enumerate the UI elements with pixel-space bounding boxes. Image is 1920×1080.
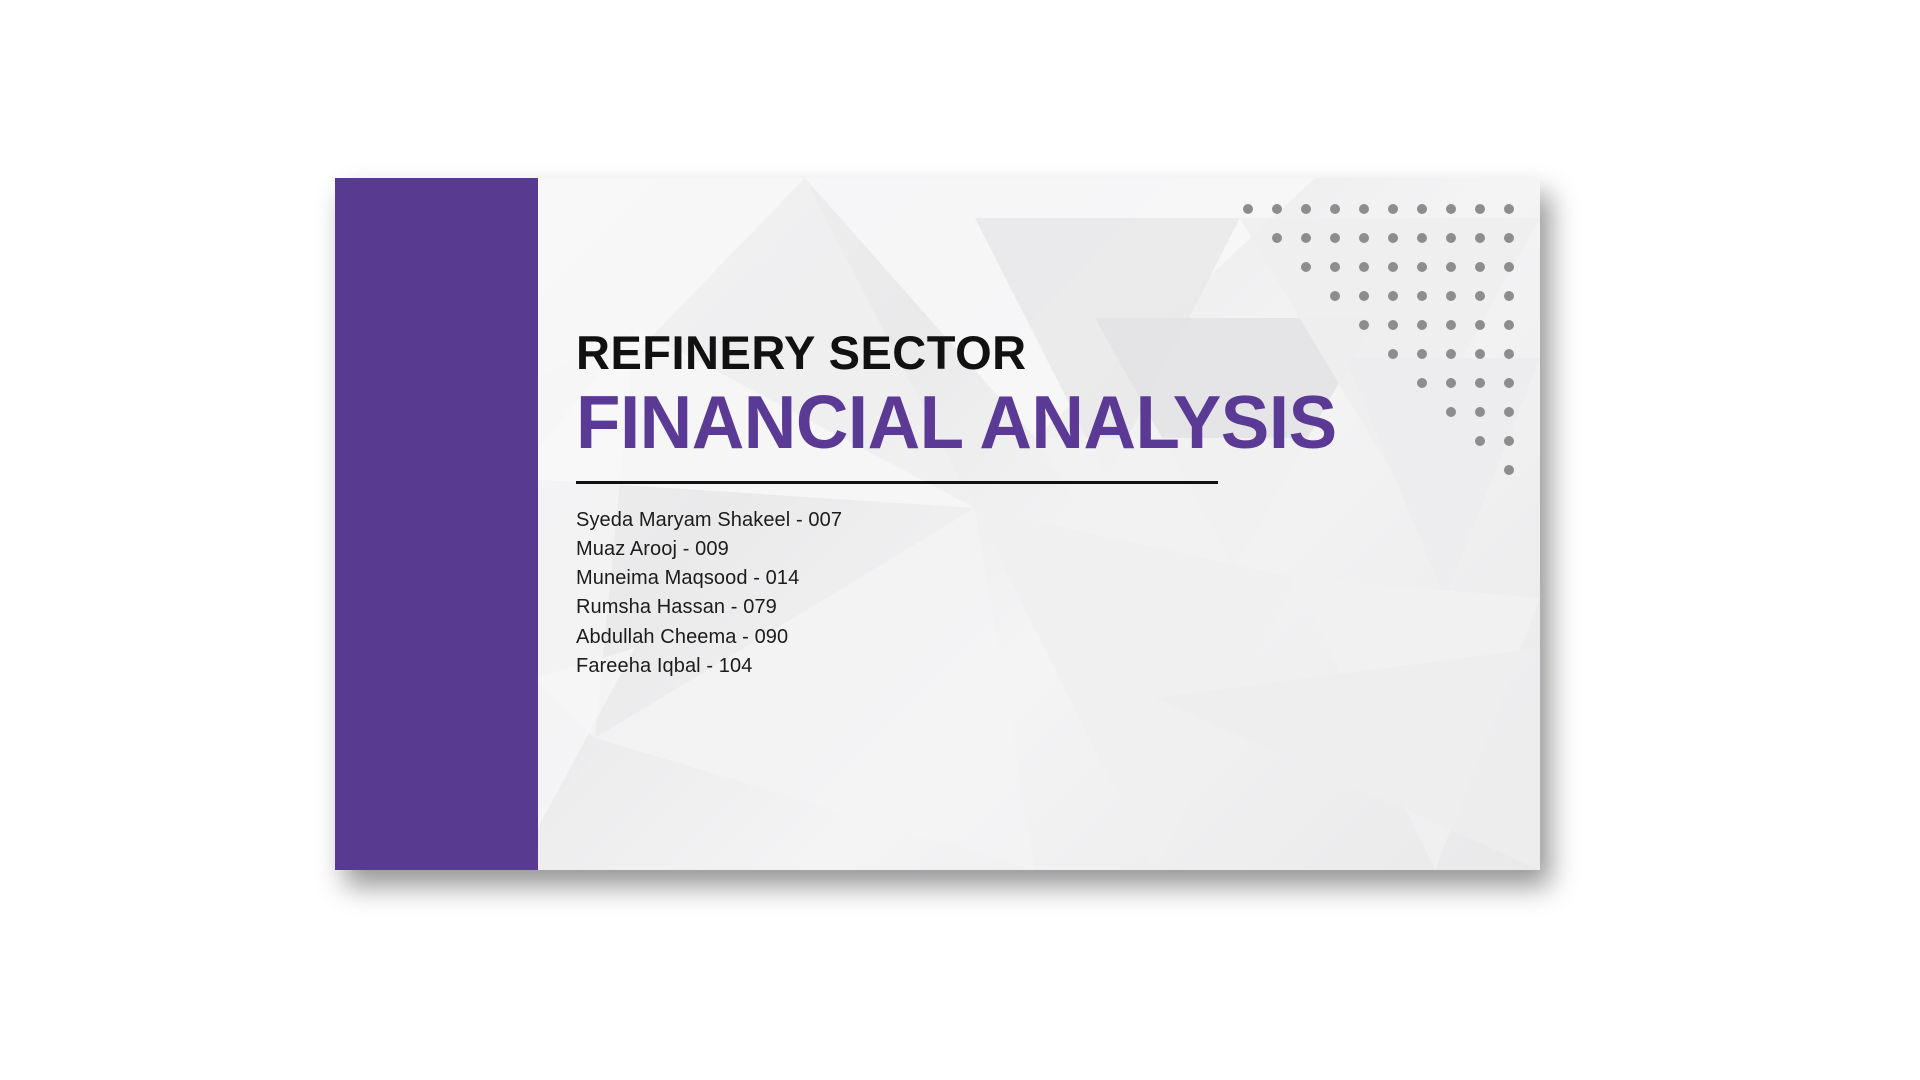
grid-dot <box>1417 262 1427 272</box>
grid-dot <box>1446 291 1456 301</box>
grid-dot <box>1504 262 1514 272</box>
grid-dot <box>1301 204 1311 214</box>
grid-dot <box>1330 233 1340 243</box>
grid-dot <box>1475 291 1485 301</box>
presentation-slide: REFINERY SECTOR FINANCIAL ANALYSIS Syeda… <box>335 178 1540 870</box>
author-list-item: Muaz Arooj - 009 <box>576 535 1376 564</box>
grid-dot <box>1272 204 1282 214</box>
grid-dot <box>1388 262 1398 272</box>
grid-dot <box>1475 262 1485 272</box>
grid-dot <box>1475 320 1485 330</box>
grid-dot <box>1417 378 1427 388</box>
grid-dot <box>1388 291 1398 301</box>
grid-dot <box>1446 349 1456 359</box>
slide-eyebrow-title: REFINERY SECTOR <box>576 328 1376 377</box>
grid-dot <box>1359 291 1369 301</box>
grid-dot <box>1446 320 1456 330</box>
author-list-item: Abdullah Cheema - 090 <box>576 623 1376 652</box>
grid-dot <box>1504 233 1514 243</box>
author-list-item: Fareeha Iqbal - 104 <box>576 652 1376 681</box>
grid-dot <box>1301 233 1311 243</box>
grid-dot <box>1330 291 1340 301</box>
grid-dot <box>1417 291 1427 301</box>
grid-dot <box>1504 291 1514 301</box>
grid-dot <box>1446 378 1456 388</box>
grid-dot <box>1504 378 1514 388</box>
grid-dot <box>1417 233 1427 243</box>
title-divider-rule <box>576 481 1218 484</box>
author-list: Syeda Maryam Shakeel - 007Muaz Arooj - 0… <box>576 506 1376 681</box>
grid-dot <box>1388 233 1398 243</box>
grid-dot <box>1475 204 1485 214</box>
grid-dot <box>1388 204 1398 214</box>
screenshot-canvas: REFINERY SECTOR FINANCIAL ANALYSIS Syeda… <box>0 0 1920 1080</box>
grid-dot <box>1446 407 1456 417</box>
grid-dot <box>1388 320 1398 330</box>
grid-dot <box>1359 262 1369 272</box>
grid-dot <box>1475 349 1485 359</box>
grid-dot <box>1504 204 1514 214</box>
grid-dot <box>1475 407 1485 417</box>
grid-dot <box>1504 465 1514 475</box>
author-list-item: Syeda Maryam Shakeel - 007 <box>576 506 1376 535</box>
grid-dot <box>1446 204 1456 214</box>
grid-dot <box>1301 262 1311 272</box>
grid-dot <box>1417 320 1427 330</box>
grid-dot <box>1417 349 1427 359</box>
grid-dot <box>1504 320 1514 330</box>
grid-dot <box>1359 204 1369 214</box>
author-list-item: Rumsha Hassan - 079 <box>576 593 1376 622</box>
grid-dot <box>1504 349 1514 359</box>
grid-dot <box>1446 233 1456 243</box>
grid-dot <box>1417 204 1427 214</box>
grid-dot <box>1504 407 1514 417</box>
grid-dot <box>1504 436 1514 446</box>
sidebar-accent-bar <box>335 178 538 870</box>
grid-dot <box>1272 233 1282 243</box>
grid-dot <box>1475 233 1485 243</box>
grid-dot <box>1243 204 1253 214</box>
grid-dot <box>1359 233 1369 243</box>
slide-main-title: FINANCIAL ANALYSIS <box>576 383 1352 463</box>
grid-dot <box>1388 349 1398 359</box>
grid-dot <box>1446 262 1456 272</box>
grid-dot <box>1475 436 1485 446</box>
title-text-block: REFINERY SECTOR FINANCIAL ANALYSIS Syeda… <box>576 328 1376 681</box>
author-list-item: Muneima Maqsood - 014 <box>576 564 1376 593</box>
grid-dot <box>1475 378 1485 388</box>
grid-dot <box>1330 204 1340 214</box>
grid-dot <box>1330 262 1340 272</box>
